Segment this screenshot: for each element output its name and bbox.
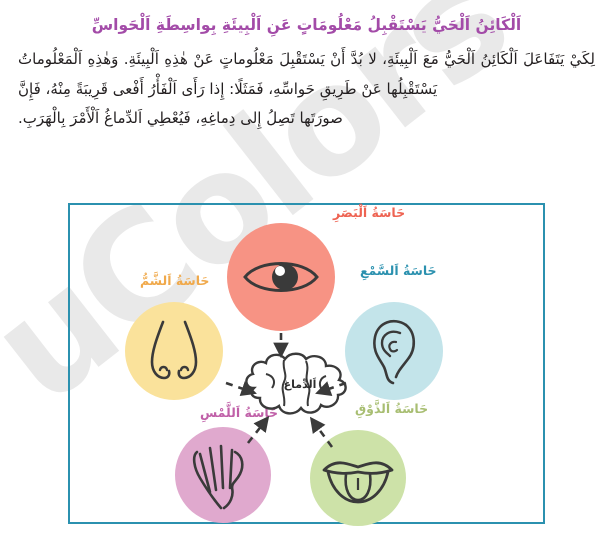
paragraph-last-line: صورَتَها تَصِلُ إِلى دِماغِهِ، فَيُعْطِي…: [18, 104, 595, 133]
page-title: اَلْكَائِنُ اَلْحَيُّ يَسْتَقْبِلُ مَعْل…: [18, 14, 595, 37]
diagram-arrows: [70, 205, 543, 522]
senses-diagram: حَاسَةُ اَلْبَصَرِ حَاسَةُ اَلشَّمُّ حَا…: [68, 203, 545, 524]
lesson-text-block: اَلْكَائِنُ اَلْحَيُّ يَسْتَقْبِلُ مَعْل…: [0, 0, 613, 133]
lesson-paragraph: لِكَيْ يَتَفَاعَلَ اَلْكَائِنُ اَلْحَيُّ…: [18, 45, 595, 133]
paragraph-body: لِكَيْ يَتَفَاعَلَ اَلْكَائِنُ اَلْحَيُّ…: [18, 50, 595, 97]
